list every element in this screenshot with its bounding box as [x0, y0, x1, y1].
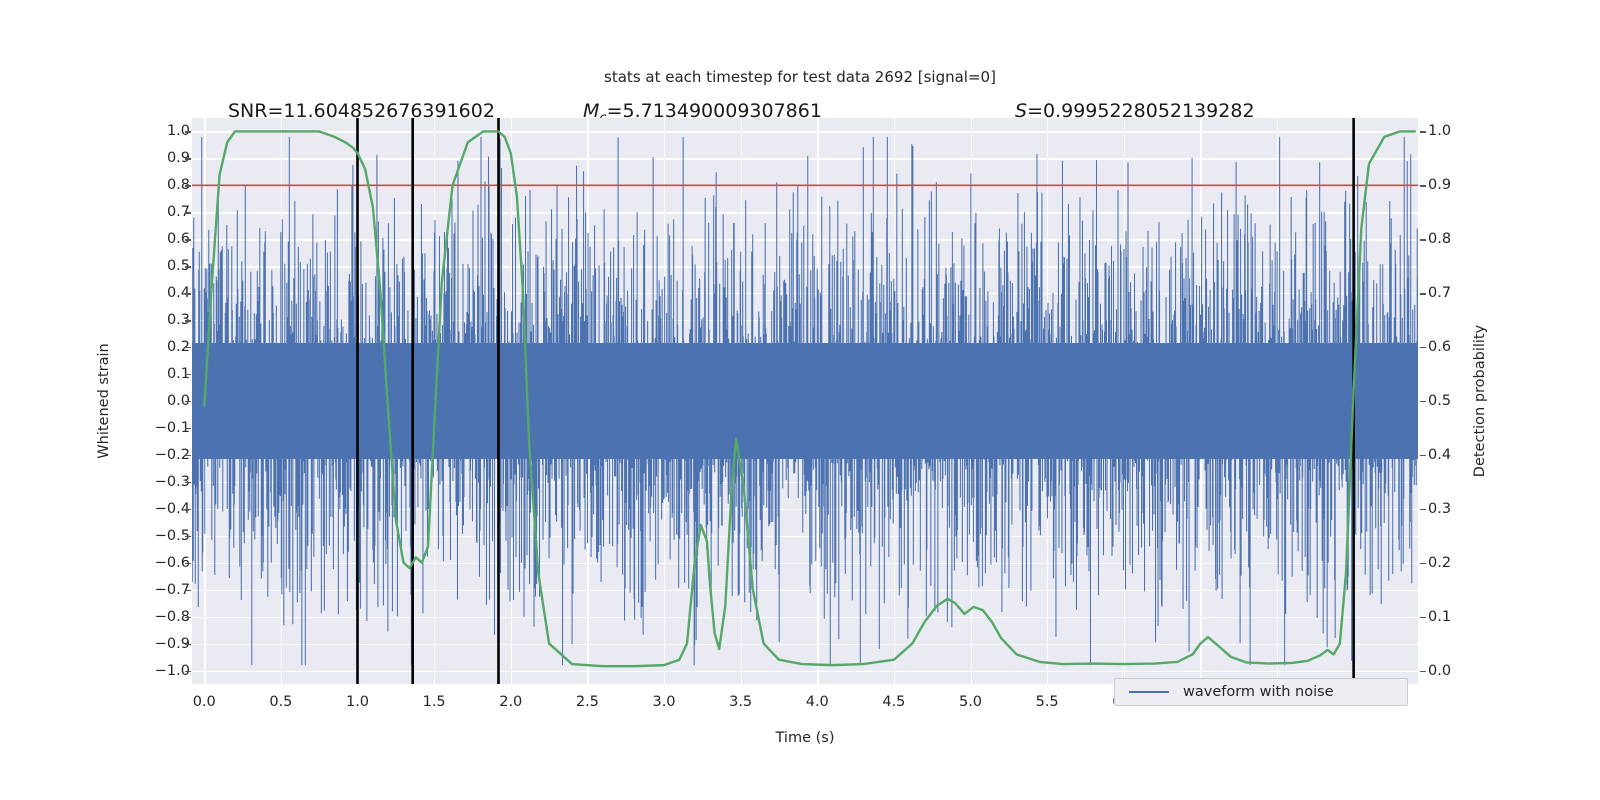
y-axis-right-tick-mark: [1420, 293, 1426, 294]
y-axis-left-tick-mark: [185, 590, 191, 591]
x-axis-tick-label: 0.5: [251, 694, 311, 710]
y-axis-left-tick-label: −0.3: [130, 474, 190, 490]
y-axis-left-tick-mark: [185, 347, 191, 348]
legend: waveform with noise: [1114, 678, 1408, 706]
y-axis-left-tick-label: −0.2: [130, 447, 190, 463]
x-axis-label: Time (s): [776, 730, 835, 746]
y-axis-left-tick-label: 0.1: [130, 366, 190, 382]
y-axis-left-tick-mark: [185, 617, 191, 618]
y-axis-left-tick-mark: [185, 671, 191, 672]
y-axis-left-tick-label: 0.7: [130, 204, 190, 220]
y-axis-left-tick-mark: [185, 131, 191, 132]
y-axis-right-tick-mark: [1420, 239, 1426, 240]
x-axis-tick-label: 0.0: [174, 694, 234, 710]
y-axis-left-tick-label: 1.0: [130, 123, 190, 139]
y-axis-right-tick-label: 0.8: [1428, 231, 1488, 247]
y-axis-right-tick-mark: [1420, 401, 1426, 402]
y-axis-right-tick-label: 0.0: [1428, 663, 1488, 679]
x-axis-tick-label: 5.0: [941, 694, 1001, 710]
y-axis-right-tick-mark: [1420, 455, 1426, 456]
y-axis-right-tick-mark: [1420, 347, 1426, 348]
y-axis-right-tick-label: 0.7: [1428, 285, 1488, 301]
page-title: stats at each timestep for test data 269…: [0, 68, 1600, 86]
x-axis-tick-label: 5.5: [1017, 694, 1077, 710]
figure-canvas: stats at each timestep for test data 269…: [0, 0, 1600, 800]
y-axis-right-tick-label: 0.2: [1428, 555, 1488, 571]
y-axis-left-tick-mark: [185, 320, 191, 321]
y-axis-left-tick-label: 0.3: [130, 312, 190, 328]
plot-area: [192, 118, 1418, 684]
y-axis-left-tick-label: −0.8: [130, 609, 190, 625]
y-axis-left-tick-mark: [185, 374, 191, 375]
y-axis-left-tick-mark: [185, 455, 191, 456]
y-axis-left-tick-mark: [185, 563, 191, 564]
x-axis-tick-label: 2.0: [481, 694, 541, 710]
y-axis-left-tick-label: 0.2: [130, 339, 190, 355]
legend-swatch-waveform: [1129, 691, 1169, 694]
y-axis-left-tick-label: −0.6: [130, 555, 190, 571]
y-axis-left-tick-mark: [185, 158, 191, 159]
waveform-noise-trace: [192, 137, 1418, 665]
y-axis-left-tick-label: 0.4: [130, 285, 190, 301]
y-axis-left-tick-label: 0.5: [130, 258, 190, 274]
y-axis-right-tick-mark: [1420, 617, 1426, 618]
y-axis-left-tick-mark: [185, 293, 191, 294]
y-axis-left-tick-label: −0.4: [130, 501, 190, 517]
y-axis-right-tick-label: 0.3: [1428, 501, 1488, 517]
y-axis-right-label: Detection probability: [1472, 325, 1488, 477]
y-axis-left-tick-mark: [185, 644, 191, 645]
y-axis-right-tick-label: 0.1: [1428, 609, 1488, 625]
y-axis-left-tick-mark: [185, 536, 191, 537]
y-axis-left-tick-mark: [185, 212, 191, 213]
y-axis-left-tick-label: −1.0: [130, 663, 190, 679]
y-axis-left-tick-label: −0.9: [130, 636, 190, 652]
waveform-noise-series: [192, 137, 1418, 665]
y-axis-left-tick-label: 0.9: [130, 150, 190, 166]
y-axis-left-tick-mark: [185, 401, 191, 402]
y-axis-right-tick-label: 0.9: [1428, 177, 1488, 193]
y-axis-left-tick-label: 0.8: [130, 177, 190, 193]
y-axis-right-tick-mark: [1420, 671, 1426, 672]
y-axis-left-tick-label: −0.1: [130, 420, 190, 436]
y-axis-right-tick-mark: [1420, 185, 1426, 186]
y-axis-right-tick-mark: [1420, 131, 1426, 132]
y-axis-left-tick-label: −0.7: [130, 582, 190, 598]
y-axis-right-tick-mark: [1420, 563, 1426, 564]
x-axis-tick-label: 4.0: [787, 694, 847, 710]
y-axis-left-tick-mark: [185, 509, 191, 510]
y-axis-left-tick-label: 0.0: [130, 393, 190, 409]
x-axis-tick-label: 1.5: [404, 694, 464, 710]
y-axis-left-tick-mark: [185, 185, 191, 186]
y-axis-left-tick-mark: [185, 239, 191, 240]
y-axis-right-tick-label: 1.0: [1428, 123, 1488, 139]
x-axis-tick-label: 4.5: [864, 694, 924, 710]
y-axis-left-tick-mark: [185, 428, 191, 429]
y-axis-left-tick-mark: [185, 266, 191, 267]
x-axis-tick-label: 2.5: [557, 694, 617, 710]
x-axis-tick-label: 3.5: [711, 694, 771, 710]
data-layer: [192, 118, 1418, 684]
x-axis-tick-label: 3.0: [634, 694, 694, 710]
y-axis-left-label: Whitened strain: [96, 343, 112, 458]
y-axis-right-tick-mark: [1420, 509, 1426, 510]
x-axis-tick-label: 1.0: [328, 694, 388, 710]
y-axis-left-tick-label: −0.5: [130, 528, 190, 544]
y-axis-left-tick-label: 0.6: [130, 231, 190, 247]
y-axis-left-tick-mark: [185, 482, 191, 483]
legend-label-waveform: waveform with noise: [1183, 684, 1334, 700]
